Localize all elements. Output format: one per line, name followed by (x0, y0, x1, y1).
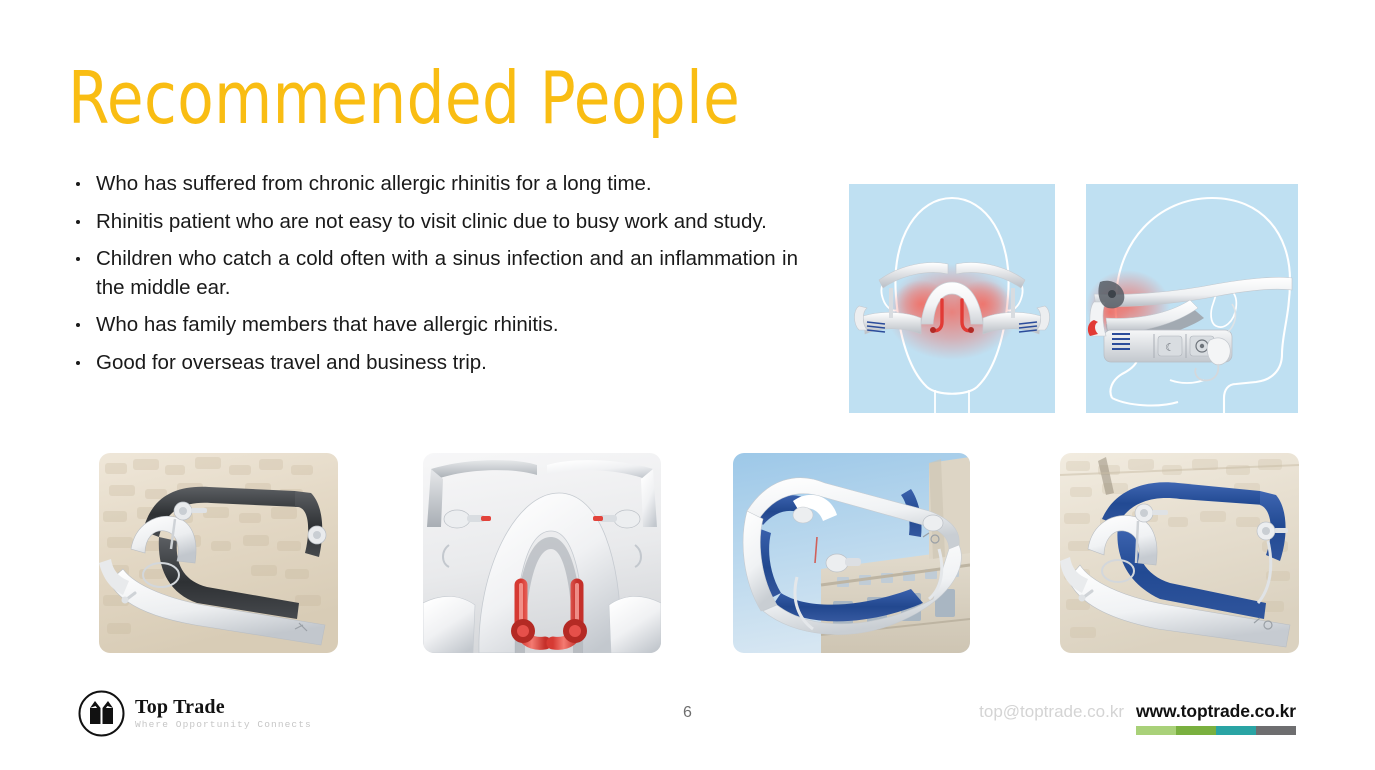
page-title: Recommended People (68, 57, 740, 139)
list-item-text: Children who catch a cold often with a s… (96, 245, 798, 302)
bullet-dot-icon (76, 257, 80, 261)
product-photo (733, 453, 970, 653)
footer-contact: top@toptrade.co.kr www.toptrade.co.kr (979, 700, 1296, 735)
svg-text:☾: ☾ (1165, 342, 1175, 354)
list-item: Children who catch a cold often with a s… (68, 245, 798, 302)
list-item: Who has family members that have allergi… (68, 311, 798, 340)
color-bar-segment-1 (1136, 726, 1176, 735)
brand-color-bar (1136, 726, 1296, 735)
list-item-text: Rhinitis patient who are not easy to vis… (96, 208, 798, 237)
list-item: Who has suffered from chronic allergic r… (68, 170, 798, 199)
illustration-front-view (849, 184, 1055, 413)
list-item: Rhinitis patient who are not easy to vis… (68, 208, 798, 237)
list-item-text: Who has suffered from chronic allergic r… (96, 170, 798, 199)
bullet-list: Who has suffered from chronic allergic r… (68, 170, 798, 377)
bullet-dot-icon (76, 323, 80, 327)
color-bar-segment-2 (1176, 726, 1216, 735)
contact-email[interactable]: top@toptrade.co.kr (979, 700, 1124, 724)
color-bar-segment-4 (1256, 726, 1296, 735)
product-photo (99, 453, 338, 653)
bullet-dot-icon (76, 361, 80, 365)
website-url[interactable]: www.toptrade.co.kr (1136, 700, 1296, 722)
product-photo (423, 453, 661, 653)
list-item-text: Good for overseas travel and business tr… (96, 351, 487, 374)
bullet-dot-icon (76, 220, 80, 224)
list-item: Good for overseas travel and business tr… (68, 349, 798, 378)
website-block: www.toptrade.co.kr (1136, 700, 1296, 735)
slide-canvas: Recommended People Who has suffered from… (0, 0, 1375, 770)
bullet-dot-icon (76, 182, 80, 186)
color-bar-segment-3 (1216, 726, 1256, 735)
product-photo (1060, 453, 1299, 653)
list-item-text: Who has family members that have allergi… (96, 313, 559, 336)
illustration-side-view: ☾ (1086, 184, 1298, 413)
